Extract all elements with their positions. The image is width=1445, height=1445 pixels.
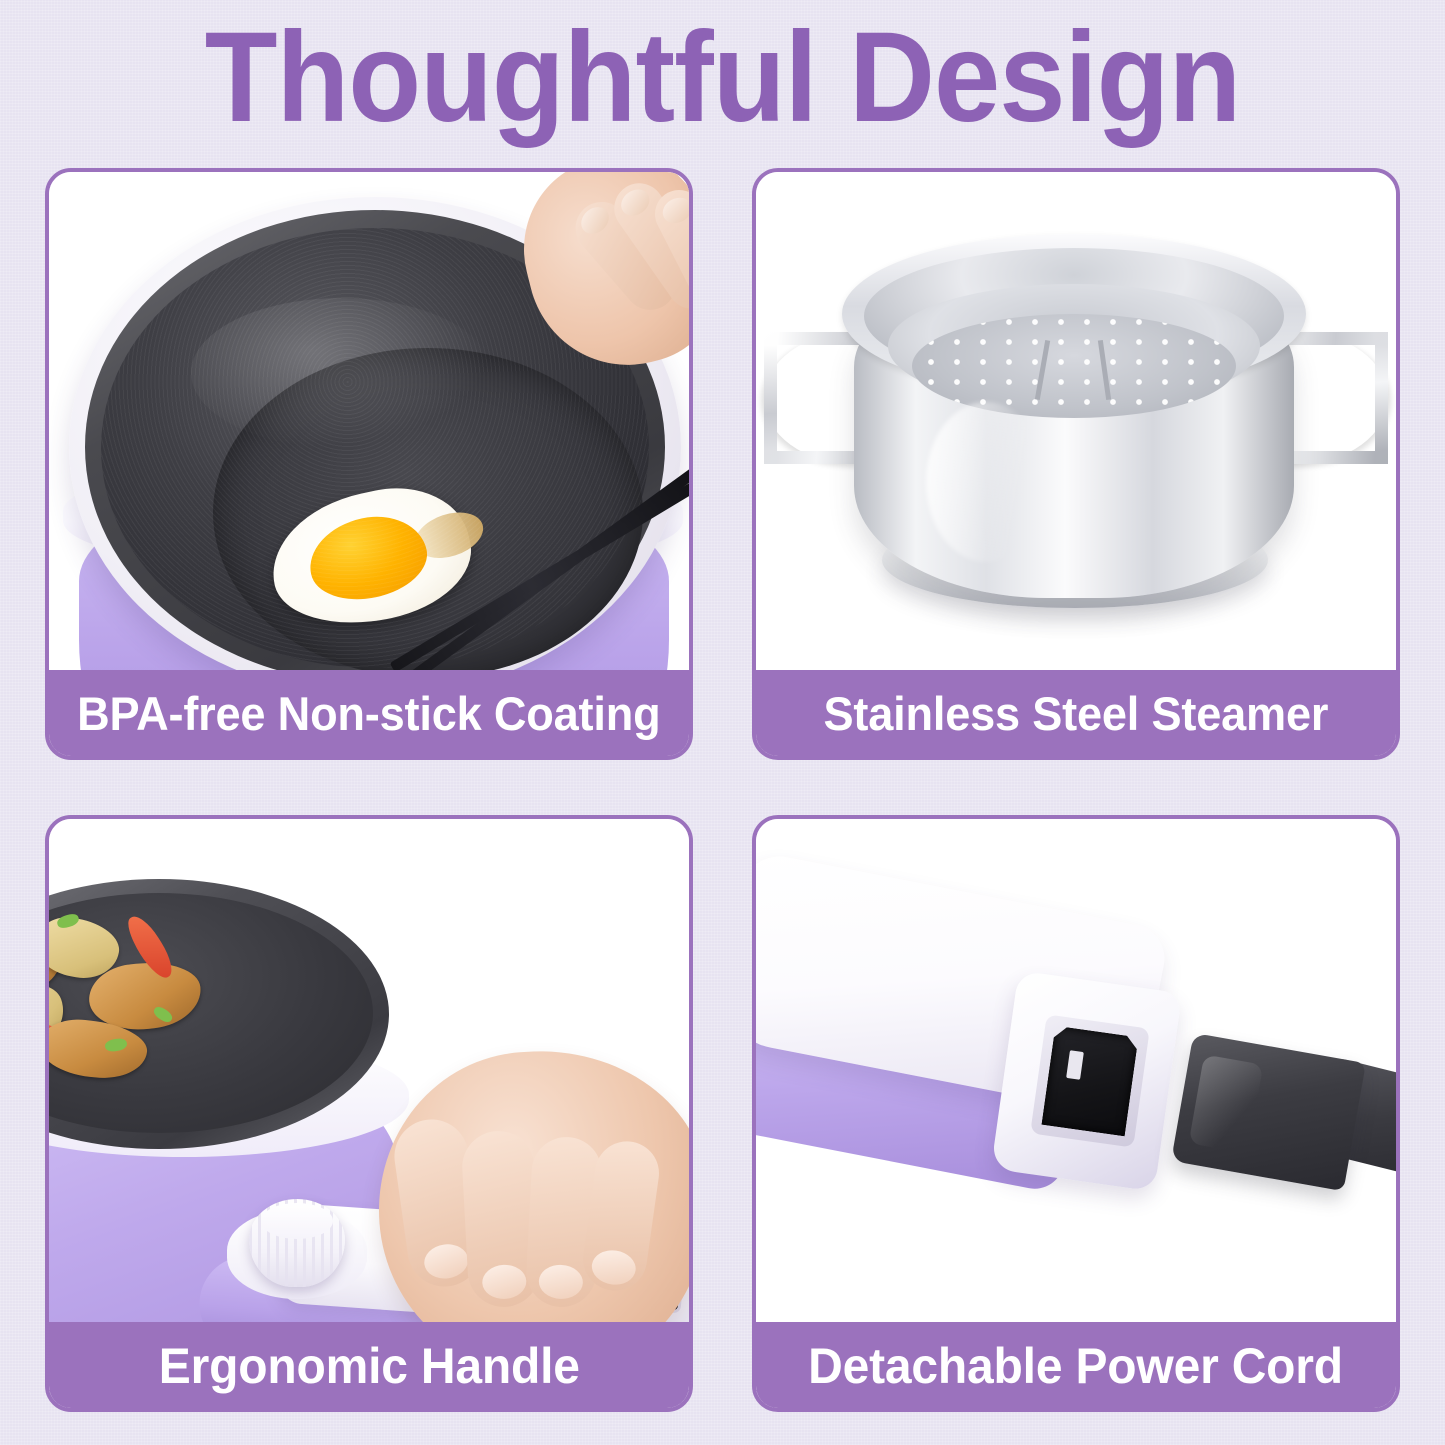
fingernail [538,1264,584,1300]
page-title: Thoughtful Design [51,14,1395,142]
steamer-basket [756,172,1396,671]
pan-highlight [191,298,491,448]
feature-panel-ergonomic-handle: Ergonomic Handle [45,815,693,1412]
panel-caption-text: BPA-free Non-stick Coating [77,686,660,741]
feature-panel-stainless-steel-steamer: Stainless Steel Steamer [752,168,1400,760]
panel-caption-text: Detachable Power Cord [809,1337,1344,1395]
product-photo-steamer [756,172,1396,671]
panel-caption-bar: Stainless Steel Steamer [755,670,1397,757]
temperature-knob[interactable] [249,1199,345,1287]
panel-caption-bar: Ergonomic Handle [48,1322,690,1409]
product-photo-power-cord [756,819,1396,1323]
fingernail [590,1248,638,1288]
panel-caption-text: Ergonomic Handle [159,1337,580,1395]
power-inlet-socket [1041,1026,1138,1137]
panel-caption-bar: Detachable Power Cord [755,1322,1397,1409]
fingernail [481,1264,527,1300]
feature-panel-bpa-free-non-stick-coating: OFF BPA-free Non-stick Coating [45,168,693,760]
fried-egg-white [260,474,482,641]
panel-caption-bar: BPA-free Non-stick Coating [48,670,690,757]
feature-panel-detachable-power-cord: Detachable Power Cord [752,815,1400,1412]
steamer-highlight [926,402,1046,562]
fingernail [616,184,654,221]
fried-egg-yolk [302,507,434,610]
steamer-steam-holes [912,314,1236,418]
pan-floor [213,348,643,671]
fingernail [658,193,689,228]
panel-caption-text: Stainless Steel Steamer [824,686,1329,741]
steamer-perforated-floor [912,314,1236,418]
fingernail [576,202,614,240]
product-photo-ergonomic-handle [49,819,689,1323]
fingernail [422,1242,470,1282]
product-photo-non-stick-pan: OFF [49,172,689,671]
